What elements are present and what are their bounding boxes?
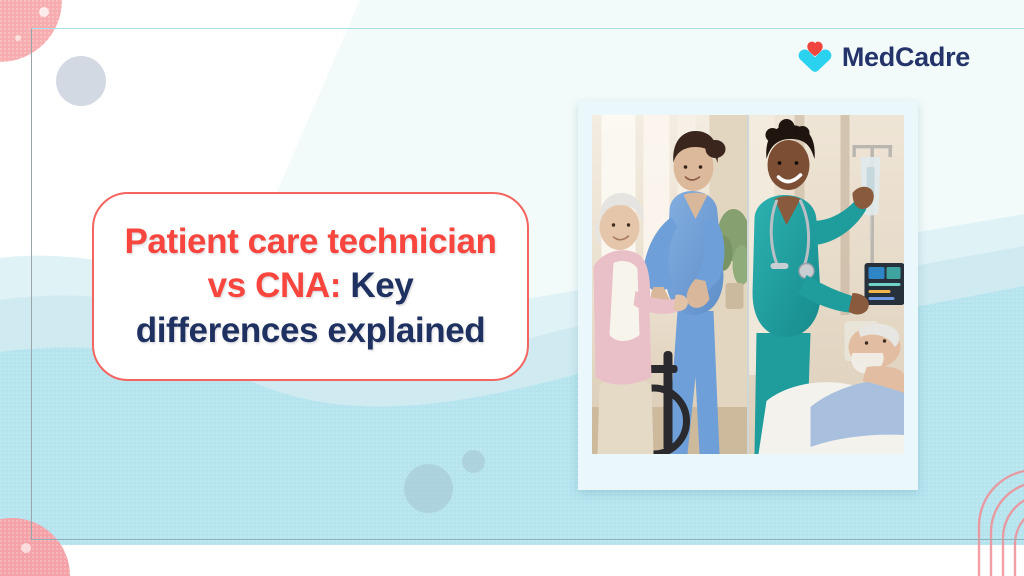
photo-left-female-nurse <box>592 115 747 454</box>
blue-circle-small-icon <box>462 450 485 473</box>
blue-circle-large-icon <box>404 464 453 513</box>
vitals-monitor <box>865 263 905 305</box>
page-title: Patient care technician vs CNA: Key diff… <box>116 220 504 352</box>
title-line-3: differences explained <box>136 311 486 350</box>
photo-left-illustration <box>592 115 747 454</box>
photo-card <box>578 101 918 490</box>
title-line-2-navy: Key <box>341 266 413 305</box>
title-card: Patient care technician vs CNA: Key diff… <box>92 192 529 381</box>
gray-circle-icon <box>56 56 106 106</box>
photo-right-male-nurse <box>749 115 904 454</box>
brand-name: MedCadre <box>842 44 970 71</box>
heart-chevron-icon <box>797 40 833 74</box>
bg-bottom-strip <box>0 545 1024 576</box>
photo-right-illustration <box>749 115 904 454</box>
title-line-1: Patient care technician <box>124 222 496 261</box>
brand-logo[interactable]: MedCadre <box>797 40 970 74</box>
photo-pair <box>592 115 904 454</box>
slide-canvas: MedCadre Patient care technician vs CNA:… <box>0 0 1024 576</box>
title-line-2-red: vs CNA: <box>208 266 341 305</box>
